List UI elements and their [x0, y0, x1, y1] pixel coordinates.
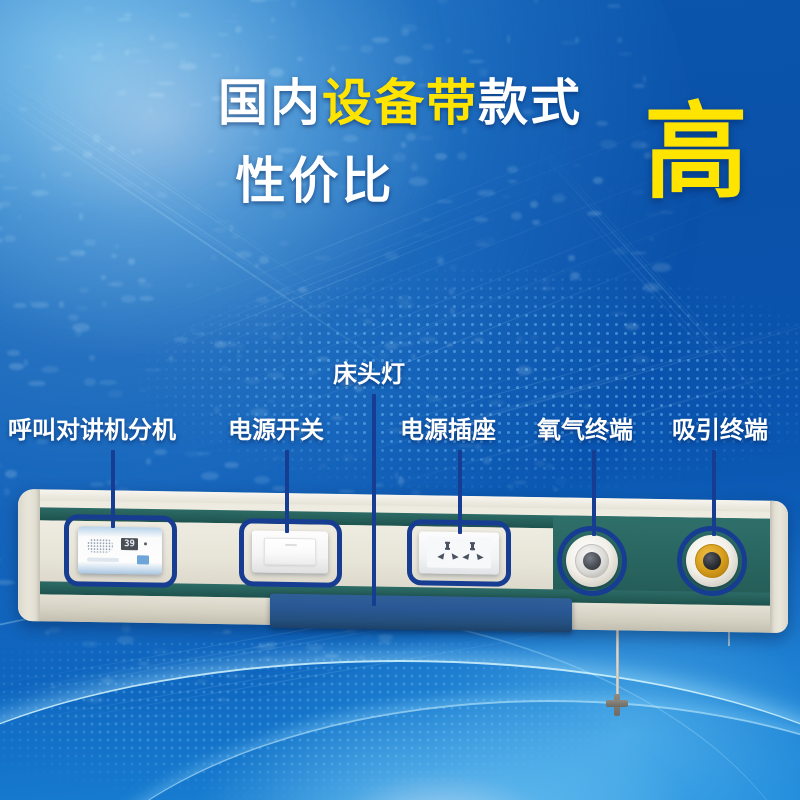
callout-label-suction: 吸引终端 [672, 418, 768, 442]
callout-label-intercom: 呼叫对讲机分机 [8, 418, 176, 442]
leader-line-oxygen [592, 450, 596, 536]
highlight-box-socket [407, 519, 511, 587]
highlight-box-oxygen [557, 525, 627, 596]
callout-label-power-switch: 电源开关 [228, 418, 324, 442]
highlight-box-suction [677, 525, 747, 596]
callout-layer: 呼叫对讲机分机 电源开关 床头灯 电源插座 氧气终端 吸引终端 [0, 0, 800, 800]
callout-label-oxygen: 氧气终端 [537, 418, 633, 442]
highlight-box-power-switch [239, 518, 342, 588]
callout-label-socket: 电源插座 [400, 418, 496, 442]
leader-line-suction [712, 450, 716, 536]
promo-banner: 国内设备带款式 性价比 高 呼叫对讲机分机 电源开关 床头灯 电源插座 氧气终端… [0, 0, 800, 800]
callout-label-bed-lamp: 床头灯 [333, 362, 405, 386]
highlight-box-intercom [64, 514, 177, 588]
leader-line-bed-lamp [372, 394, 376, 606]
